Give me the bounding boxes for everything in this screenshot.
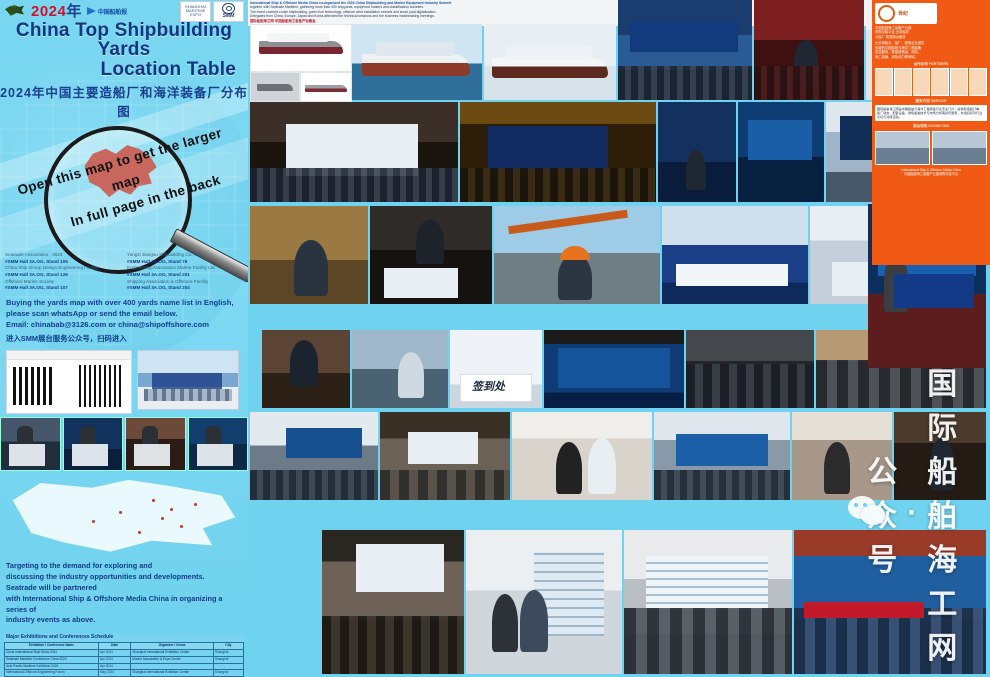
table-cell: International Offshore Engineering Forum: [5, 670, 99, 677]
photo-event-banner-2: [754, 0, 864, 100]
table-cell: Shanghai: [213, 650, 243, 657]
table-cell: Apr 2024: [98, 656, 130, 663]
table-cell: Shanghai International Exhibition Center: [131, 650, 214, 657]
triangle-icon: [87, 7, 96, 15]
title-line-2: Location Table: [4, 60, 244, 79]
photo-speaker-1: [0, 417, 61, 471]
booth-line: #SMM Hall 3A.OG, Stand 76: [127, 259, 243, 266]
brand-label: 中国船舶报: [98, 7, 127, 16]
photo-awards-lineup: [686, 330, 814, 408]
eagle-logo-icon: [4, 3, 26, 19]
ad-section-exhibition: 展会现场 EXHIBITION: [875, 124, 987, 129]
table-cell: China International Boat Show 2024: [5, 650, 99, 657]
table-row: China International Boat Show 2024Apr 20…: [5, 650, 244, 657]
photo-gala-hall: [460, 102, 656, 202]
target-line-3: Seatrade will be partnered: [6, 583, 242, 594]
table-cell: [213, 663, 243, 670]
wechat-icon: [848, 496, 859, 530]
watermark-separator: ·: [907, 496, 919, 530]
table-row: Asia Pacific Maritime Exhibition 2024Apr…: [5, 663, 244, 670]
table-cell: Asia Pacific Maritime Exhibition 2024: [5, 663, 99, 670]
photo-backdrop-wall-delegates: [624, 530, 792, 674]
table-cell: Seatrade Maritime Conference China 2024: [5, 656, 99, 663]
ad-exhibition-images: [875, 131, 987, 165]
poster-year: 2024年: [31, 4, 82, 19]
photo-shipyard-quay: [352, 330, 448, 408]
photo-forum-stage: [544, 330, 684, 408]
booth-info-left: Seatrade Association - 2024 #SMM Hall 3A…: [5, 252, 121, 292]
gear-icon: [222, 3, 235, 15]
photo-presenter-lectern: [370, 206, 492, 304]
shipbuilding-yards-poster: 2024年 中国船舶报 SHANGHAI MARITIME EXPO SMM C…: [0, 0, 248, 677]
ring-icon: [878, 5, 895, 22]
photo-exhibition-booth: [662, 206, 808, 304]
ad-headline: 中国船舶海工装备产业链 采购对接平台 全球船东 与船厂 精准撮合服务: [875, 26, 987, 39]
ad-white-text: 国际船舶海工网是中国船舶与海洋工程装备行业专业门户，提供新造船订单、船厂动态、配…: [875, 105, 987, 121]
photo-stage-screen: [738, 102, 824, 202]
buy-email-line: Email: chinabab@3126.com or china@shipof…: [6, 319, 243, 330]
booth-line: Offshore Marine Society: [5, 279, 121, 286]
booth-line: Yangzi Jiangsu Shipbuilding Co., Ltd: [127, 252, 243, 259]
photo-collage: International Ship & Offshore Media Chin…: [248, 0, 990, 677]
photo-keynote-hall: [250, 102, 458, 202]
photo-panel-discussion: [322, 530, 464, 674]
thumbnail-photo-row: [0, 414, 248, 471]
ad-footer: International Ship & Offshore Media Chin…: [875, 168, 987, 177]
target-line-4: with International Ship & Offshore Media…: [6, 594, 242, 616]
smm-label: SMM: [223, 14, 235, 19]
booth-line: Shipping Association & Offshore Facility: [127, 279, 243, 286]
booth-line: China Ship Group Design Engineering Faci…: [5, 265, 121, 272]
photo-speaker-3: [125, 417, 186, 471]
photo-ship-model-2: [250, 72, 300, 102]
qr-pattern-right: [79, 365, 123, 407]
table-cell: Apr 2024: [98, 663, 130, 670]
table-cell: Apr 2024: [98, 650, 130, 657]
whatsapp-qr-code[interactable]: [6, 350, 132, 414]
photo-foyer-networking: [512, 412, 652, 500]
target-line-5: industry events as above.: [6, 615, 242, 626]
col-header-date: Date: [98, 643, 130, 650]
table-row: Seatrade Maritime Conference China 2024A…: [5, 656, 244, 663]
booth-info: Seatrade Association - 2024 #SMM Hall 3A…: [0, 250, 248, 292]
photo-ship-model-1: [250, 24, 352, 72]
booth-line: Engineering Association Marine Facility …: [127, 265, 243, 272]
col-header-name: Exhibition / Conference Name: [5, 643, 99, 650]
booth-line: #SMM Hall 3A.OG, Stand 204: [127, 285, 243, 292]
china-yards-map-thumbnail[interactable]: [8, 477, 240, 555]
booth-line: #SMM Hall 3A.OG, Stand 105: [5, 259, 121, 266]
poster-header: 2024年 中国船舶报 SHANGHAI MARITIME EXPO SMM: [0, 0, 248, 20]
qr-pattern-left: [13, 367, 55, 405]
table-cell: May 2024: [98, 670, 130, 677]
col-header-city: City: [213, 643, 243, 650]
buy-line-chinese: 进入SMM展台服务公众号，扫码进入: [6, 334, 243, 345]
target-line-1: Targeting to the demand for exploring an…: [6, 561, 242, 572]
buy-line-1: Buying the yards map with over 400 yards…: [6, 297, 243, 308]
photo-speaker-4: [188, 417, 249, 471]
table-cell: Shanghai International Exhibition Center: [131, 670, 214, 677]
photo-expo-booth: [137, 350, 239, 410]
photo-signin-desk: 签到处: [450, 330, 542, 408]
booth-line: #SMM Hall 3A.OG, Stand 201: [127, 272, 243, 279]
target-line-2: discussing the industry opportunities an…: [6, 572, 242, 583]
table-cell: Shanghai: [213, 670, 243, 677]
signin-label: 签到处: [472, 378, 505, 394]
ad-body: 为全球船东、船厂、配套企业提供 权威的中国船舶与海洋工程装备 信息服务，覆盖新造…: [875, 41, 987, 59]
ad-partner-strip: [875, 68, 987, 96]
table-cell: [131, 663, 214, 670]
photo-blue-slide-seminar: [654, 412, 790, 500]
buy-line-2: please scan whatsApp or send the email b…: [6, 308, 243, 319]
booth-line: #SMM Hall 3A.OG, Stand 107: [5, 285, 121, 292]
photo-shipyard-crane: [494, 206, 660, 304]
photo-speaker-2: [63, 417, 124, 471]
booth-line: #SMM Hall 3A.OG, Stand 129: [5, 272, 121, 279]
photo-workshop-projector: [380, 412, 510, 500]
ad-section-service: 服务内容 SERVICE: [875, 99, 987, 104]
china-map-area: Open this map to get the larger map In f…: [0, 120, 248, 250]
col-header-organizer: Organizer / Venue: [131, 643, 214, 650]
photo-seminar-audience: [250, 412, 378, 500]
title-line-1: China Top Shipbuilding Yards: [16, 20, 232, 60]
ad-logo: 世纪: [875, 3, 937, 24]
photo-ship-model-3: [300, 72, 352, 102]
qr-and-photo-row: [0, 347, 248, 414]
page-title: China Top Shipbuilding Yards Location Ta…: [0, 20, 248, 79]
photo-blue-backdrop: [658, 102, 736, 202]
photo-dark-foyer: [894, 412, 986, 500]
table-cell: Marine Association & Expo Center: [131, 656, 214, 663]
ad-logo-text: 世纪: [898, 10, 908, 17]
photo-speaker-podium-dark: [262, 330, 350, 408]
event-description: Targeting to the demand for exploring an…: [0, 555, 248, 627]
ad-section-partners: 合作伙伴 PARTNERS: [875, 62, 987, 67]
events-schedule: Major Exhibitions and Conferences Schedu…: [4, 634, 244, 677]
smm-badge: SMM: [213, 1, 244, 22]
table-cell: Shanghai: [213, 656, 243, 663]
schedule-title: Major Exhibitions and Conferences Schedu…: [4, 634, 244, 642]
smm-expo-box: SHANGHAI MARITIME EXPO: [180, 1, 211, 22]
schedule-table: Exhibition / Conference Name Date Organi…: [4, 642, 244, 677]
photo-group-red-banner: [794, 530, 986, 674]
photo-cruise-model-white: [484, 24, 616, 100]
title-chinese: 2024年中国主要造船厂和海洋装备厂分布图: [0, 82, 248, 120]
china-ship-news-logo: 中国船舶报: [87, 7, 127, 16]
photo-event-banner-1: [618, 0, 752, 100]
table-row: International Offshore Engineering Forum…: [5, 670, 244, 677]
photo-cruise-model-blue: [352, 24, 482, 100]
photo-reception-guests: [792, 412, 892, 500]
buy-map-instructions: Buying the yards map with over 400 yards…: [0, 292, 248, 347]
orange-advertisement-panel[interactable]: 世纪 中国船舶海工装备产业链 采购对接平台 全球船东 与船厂 精准撮合服务 为全…: [872, 0, 990, 265]
qr-window-header: [7, 351, 131, 360]
table-header-row: Exhibition / Conference Name Date Organi…: [5, 643, 244, 650]
booth-line: Seatrade Association - 2024: [5, 252, 121, 259]
photo-delegate-table: [250, 206, 368, 304]
photo-signature-wall: [466, 530, 622, 674]
smm-logo-group: SHANGHAI MARITIME EXPO SMM: [180, 1, 244, 22]
poster-collage-screenshot: 2024年 中国船舶报 SHANGHAI MARITIME EXPO SMM C…: [0, 0, 990, 677]
booth-info-right: Yangzi Jiangsu Shipbuilding Co., Ltd #SM…: [127, 252, 243, 292]
